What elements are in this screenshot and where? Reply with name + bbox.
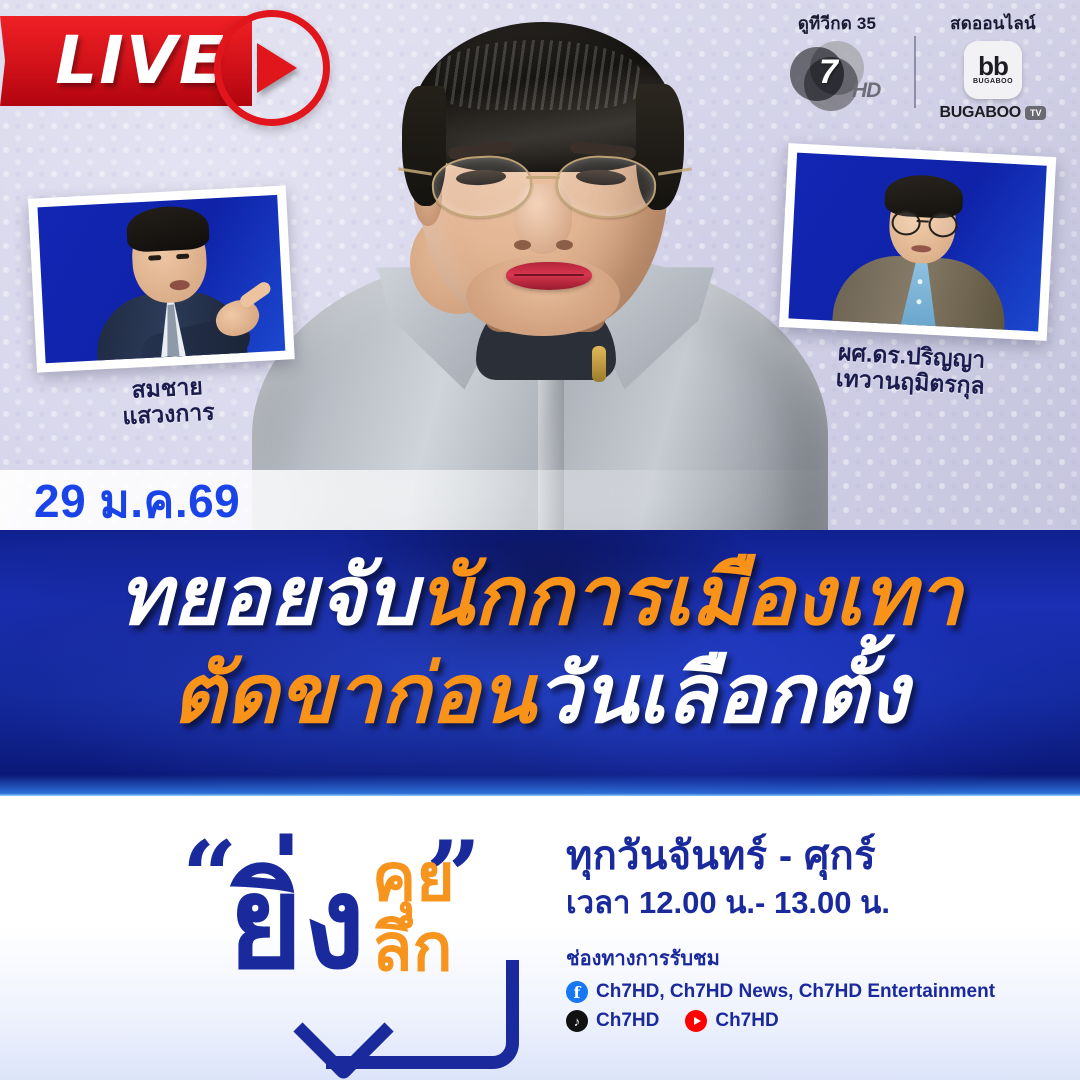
facebook-icon: f — [566, 981, 588, 1003]
guest-right-eyeglasses-icon — [891, 210, 956, 235]
host-eyeglasses-icon — [426, 150, 666, 224]
tiktok-row[interactable]: ♪ Ch7HD — [566, 1010, 659, 1032]
online-caption: สดออนไลน์ — [950, 10, 1036, 37]
bugaboo-wordmark: BUGABOO TV — [940, 104, 1047, 122]
eyeglass-bridge — [526, 176, 560, 179]
headline-line-2: ตัดขาก่อนวันเลือกตั้ง — [0, 654, 1080, 736]
host-nostril-right — [556, 240, 573, 250]
schedule-block: ทุกวันจันทร์ - ศุกร์ เวลา 12.00 น.- 13.0… — [566, 834, 1036, 1032]
play-icon[interactable] — [214, 10, 330, 126]
bugaboo-wordmark-text: BUGABOO — [940, 104, 1021, 122]
bugaboo-tv-tag: TV — [1025, 106, 1047, 120]
youtube-play-triangle-icon — [694, 1017, 701, 1025]
footer: “ ” ยิ่ง คุย ลึก ทุกวันจันทร์ - ศุกร์ เว… — [0, 796, 1080, 1080]
schedule-time: เวลา 12.00 น.- 13.00 น. — [566, 886, 1036, 920]
channel-divider — [914, 36, 916, 108]
guest-card-right: ผศ.ดร.ปริญญา เทวานฤมิตรกุล — [776, 143, 1056, 402]
eyeglass-lens-left — [430, 153, 533, 220]
show-logo-word-top: คุย — [372, 844, 455, 910]
social-row-secondary: ♪ Ch7HD Ch7HD — [566, 1010, 1036, 1032]
ch7-hd-label: HD — [852, 79, 880, 103]
show-logo: “ ” ยิ่ง คุย ลึก — [176, 826, 506, 1064]
guest-right-lens-left — [891, 210, 921, 236]
online-channel-block: สดออนไลน์ bb BUGABOO BUGABOO TV — [928, 10, 1058, 122]
facebook-row[interactable]: f Ch7HD, Ch7HD News, Ch7HD Entertainment — [566, 981, 1036, 1003]
headline-line2-orange: ตัดขาก่อน — [172, 649, 536, 740]
ch7hd-logo-icon: 7 HD — [790, 41, 884, 113]
channel-cluster: ดูทีวีกด 35 7 HD สดออนไลน์ bb BUGABOO BU… — [772, 10, 1058, 122]
channels-title: ช่องทางการรับชม — [566, 942, 1036, 974]
ch7-number: 7 — [819, 53, 838, 92]
live-promo-poster: LIVE ดูทีวีกด 35 7 HD สดออนไลน์ bb BUGAB… — [0, 0, 1080, 1080]
headline-line-1: ทยอยจับนักการเมืองเทา — [0, 556, 1080, 638]
date-strip: 29 ม.ค.69 — [0, 470, 1080, 532]
eyeglass-lens-right — [554, 153, 657, 220]
headline-line2-white: วันเลือกตั้ง — [535, 649, 908, 740]
tv-channel-block: ดูทีวีกด 35 7 HD — [772, 10, 902, 113]
host-nostril-left — [514, 240, 531, 250]
youtube-row[interactable]: Ch7HD — [685, 1010, 778, 1032]
tv-caption: ดูทีวีกด 35 — [798, 10, 876, 37]
guest-left-hair — [126, 205, 210, 253]
youtube-handle: Ch7HD — [715, 1010, 778, 1032]
bugaboo-eyes-glyph: bb — [978, 55, 1008, 78]
show-logo-word-main: ยิ่ง — [228, 860, 366, 988]
bugaboo-mark-label: BUGABOO — [973, 78, 1013, 85]
guest-right-lens-right — [928, 212, 958, 238]
bugaboo-logo-icon: bb BUGABOO — [964, 41, 1022, 99]
tiktok-icon: ♪ — [566, 1010, 588, 1032]
guest-card-left: สมชาย แสวงการ — [28, 185, 298, 434]
host-necklace — [592, 346, 606, 382]
guest-photo-frame-left — [28, 185, 295, 372]
guest-left-eye-2 — [176, 254, 189, 260]
live-badge[interactable]: LIVE — [0, 16, 252, 106]
youtube-icon — [685, 1010, 707, 1032]
play-triangle-icon — [257, 43, 297, 93]
show-logo-word-bottom: ลึก — [372, 914, 452, 980]
broadcast-date: 29 ม.ค.69 — [34, 478, 240, 524]
headline-line1-orange: นักการเมืองเทา — [417, 551, 962, 642]
guest-photo-right — [788, 153, 1046, 332]
tiktok-handle: Ch7HD — [596, 1010, 659, 1032]
facebook-handles: Ch7HD, Ch7HD News, Ch7HD Entertainment — [596, 981, 995, 1003]
guest-photo-left — [37, 195, 285, 363]
guest-photo-frame-right — [779, 143, 1056, 341]
schedule-days: ทุกวันจันทร์ - ศุกร์ — [566, 834, 1036, 878]
headline-band: ทยอยจับนักการเมืองเทา ตัดขาก่อนวันเลือกต… — [0, 530, 1080, 796]
host-lips — [506, 262, 592, 290]
headline-line1-white: ทยอยจับ — [118, 551, 418, 642]
guest-left-eye-1 — [148, 255, 161, 261]
